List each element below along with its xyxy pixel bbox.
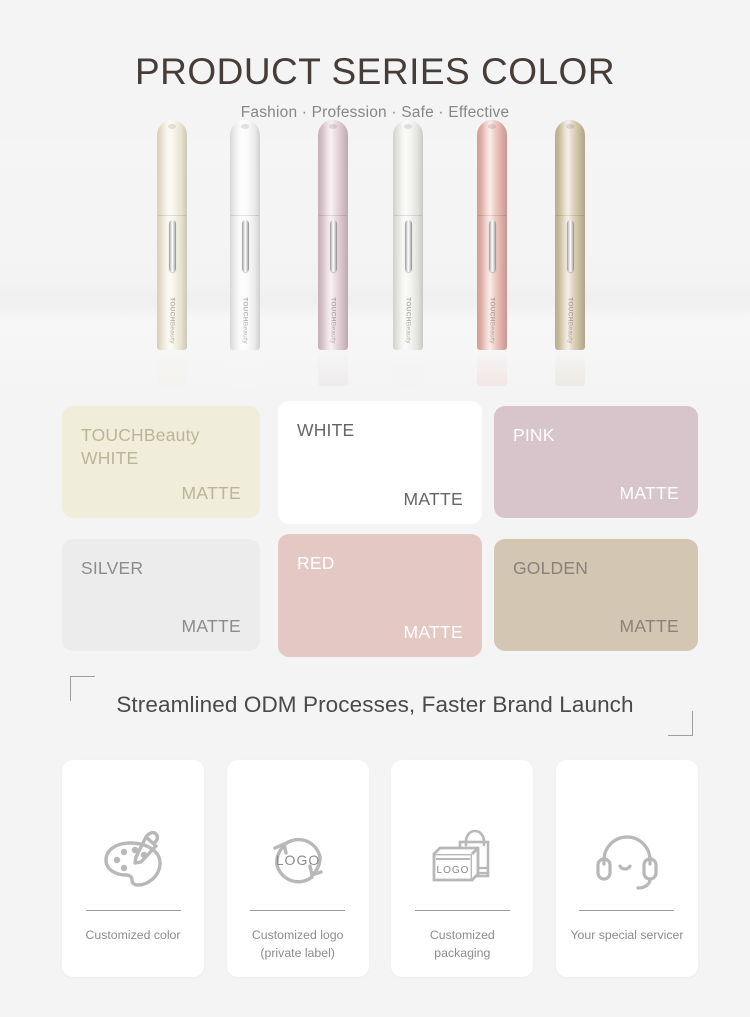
pen-cap-seam [231, 215, 259, 216]
swatch-finish: MATTE [297, 489, 463, 510]
pen-clip [330, 220, 337, 272]
swatch-silver[interactable]: SILVERMATTE [62, 539, 260, 651]
swatch-finish: MATTE [81, 616, 241, 637]
pen-cap-seam [394, 215, 422, 216]
pen-brand-text: TOUCHBeauty [489, 291, 496, 351]
pen-body: TOUCHBeauty [477, 120, 507, 350]
pen-brand-text: TOUCHBeauty [330, 291, 337, 351]
pen-body: TOUCHBeauty [318, 120, 348, 350]
headset-icon [592, 820, 662, 898]
feature-divider [579, 910, 674, 911]
swatch-touchbeauty-white[interactable]: TOUCHBeauty WHITEMATTE [62, 406, 260, 518]
swatch-pink[interactable]: PINKMATTE [494, 406, 698, 518]
pen-cap-seam [556, 215, 584, 216]
pen-cap-notch [168, 124, 176, 129]
page-subtitle: Fashion · Profession · Safe · Effective [0, 104, 750, 122]
feature-card[interactable]: Your special servicer [556, 760, 698, 977]
pen-brand-text: TOUCHBeauty [405, 291, 412, 351]
pen-brand-text: TOUCHBeauty [567, 291, 574, 351]
logo-cycle-icon: LOGO [264, 820, 332, 898]
pen-clip [242, 220, 249, 272]
page-title: PRODUCT SERIES COLOR [0, 52, 750, 93]
feature-divider [415, 910, 510, 911]
pen-reflection [555, 350, 585, 386]
feature-card[interactable]: LOGO Customized packaging [391, 760, 533, 977]
feature-label: Your special servicer [563, 927, 691, 945]
svg-text:LOGO: LOGO [437, 865, 470, 876]
product-stage: TOUCHBeautyTOUCHBeautyTOUCHBeautyTOUCHBe… [0, 140, 750, 398]
pen-golden: TOUCHBeauty [555, 120, 585, 350]
pen-body: TOUCHBeauty [157, 120, 187, 350]
feature-label: Customized color [69, 927, 197, 945]
pen-cap-notch [329, 124, 337, 129]
pen-clip [169, 220, 176, 272]
feature-label: Customized logo (private label) [234, 927, 362, 963]
odm-headline-block: Streamlined ODM Processes, Faster Brand … [0, 668, 750, 748]
palette-icon [100, 820, 166, 898]
swatch-golden[interactable]: GOLDENMATTE [494, 539, 698, 651]
pen-cap-notch [404, 124, 412, 129]
pen-reflection [318, 350, 348, 386]
feature-divider [250, 910, 345, 911]
pen-red: TOUCHBeauty [477, 120, 507, 350]
swatch-red[interactable]: REDMATTE [278, 534, 482, 657]
pen-cap-seam [319, 215, 347, 216]
feature-card[interactable]: Customized color [62, 760, 204, 977]
pen-cap-seam [158, 215, 186, 216]
pen-cap-notch [488, 124, 496, 129]
pen-clip [567, 220, 574, 272]
pen-reflection [393, 350, 423, 386]
pen-silver: TOUCHBeauty [393, 120, 423, 350]
feature-card[interactable]: LOGO Customized logo (private label) [227, 760, 369, 977]
pen-brand-text: TOUCHBeauty [169, 291, 176, 351]
feature-label: Customized packaging [398, 927, 526, 963]
swatch-finish: MATTE [513, 616, 679, 637]
pen-touchbeauty-white: TOUCHBeauty [157, 120, 187, 350]
pen-white: TOUCHBeauty [230, 120, 260, 350]
odm-headline: Streamlined ODM Processes, Faster Brand … [0, 692, 750, 718]
swatch-name: WHITE [297, 419, 463, 442]
pen-clip [405, 220, 412, 272]
pen-body: TOUCHBeauty [555, 120, 585, 350]
pen-body: TOUCHBeauty [393, 120, 423, 350]
pen-pink: TOUCHBeauty [318, 120, 348, 350]
pen-reflection [230, 350, 260, 386]
page-header: PRODUCT SERIES COLOR Fashion · Professio… [0, 0, 750, 122]
pen-cap-notch [241, 124, 249, 129]
swatch-name: PINK [513, 424, 679, 447]
swatch-finish: MATTE [81, 483, 241, 504]
pen-reflection [157, 350, 187, 386]
swatch-name: SILVER [81, 557, 241, 580]
packaging-icon: LOGO [424, 820, 500, 898]
swatch-name: TOUCHBeauty WHITE [81, 424, 241, 471]
pen-reflection [477, 350, 507, 386]
pen-brand-text: TOUCHBeauty [242, 291, 249, 351]
pen-cap-notch [566, 124, 574, 129]
feature-divider [86, 910, 181, 911]
swatch-white[interactable]: WHITEMATTE [278, 401, 482, 524]
product-pen-row: TOUCHBeautyTOUCHBeautyTOUCHBeautyTOUCHBe… [0, 140, 750, 398]
swatch-name: GOLDEN [513, 557, 679, 580]
swatch-finish: MATTE [297, 622, 463, 643]
feature-card-row: Customized color LOGO Customized logo (p… [62, 760, 698, 977]
svg-text:LOGO: LOGO [275, 852, 319, 868]
swatch-finish: MATTE [513, 483, 679, 504]
swatch-name: RED [297, 552, 463, 575]
pen-clip [489, 220, 496, 272]
pen-body: TOUCHBeauty [230, 120, 260, 350]
pen-cap-seam [478, 215, 506, 216]
